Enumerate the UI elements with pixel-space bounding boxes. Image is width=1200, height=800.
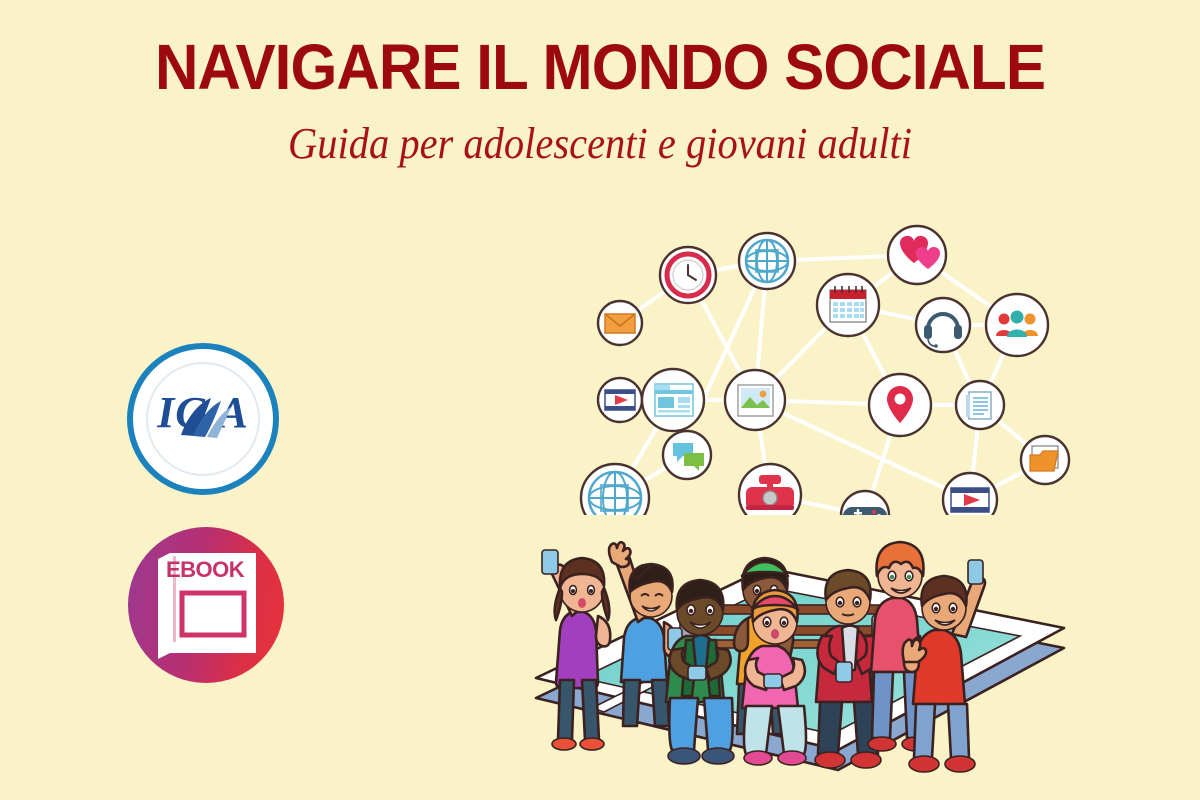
igea-logo: IG A bbox=[127, 343, 279, 495]
poster-canvas: NAVIGARE IL MONDO SOCIALE Guida per adol… bbox=[0, 0, 1200, 800]
node-location-pin[interactable] bbox=[869, 374, 931, 436]
node-video-left[interactable] bbox=[598, 378, 642, 422]
node-globe-top[interactable] bbox=[739, 233, 795, 289]
node-people-group[interactable] bbox=[986, 294, 1048, 356]
teens-on-smartphone-illustration: .outline { stroke:#3B2220; stroke-width:… bbox=[520, 440, 1080, 800]
page-title: NAVIGARE IL MONDO SOCIALE bbox=[36, 30, 1164, 104]
node-document[interactable] bbox=[956, 381, 1004, 429]
node-headphones[interactable] bbox=[916, 298, 970, 352]
node-envelope[interactable] bbox=[598, 301, 642, 345]
node-photo-image[interactable] bbox=[725, 370, 785, 430]
ebook-badge: EBOOK bbox=[128, 527, 284, 683]
page-subtitle: Guida per adolescenti e giovani adulti bbox=[48, 118, 1152, 169]
igea-swoosh-icon bbox=[177, 395, 235, 441]
node-clock[interactable] bbox=[660, 247, 716, 303]
ebook-label: EBOOK bbox=[166, 557, 250, 583]
node-hearts[interactable] bbox=[888, 226, 946, 284]
node-browser-window[interactable] bbox=[642, 369, 704, 431]
node-calendar[interactable] bbox=[817, 274, 879, 336]
